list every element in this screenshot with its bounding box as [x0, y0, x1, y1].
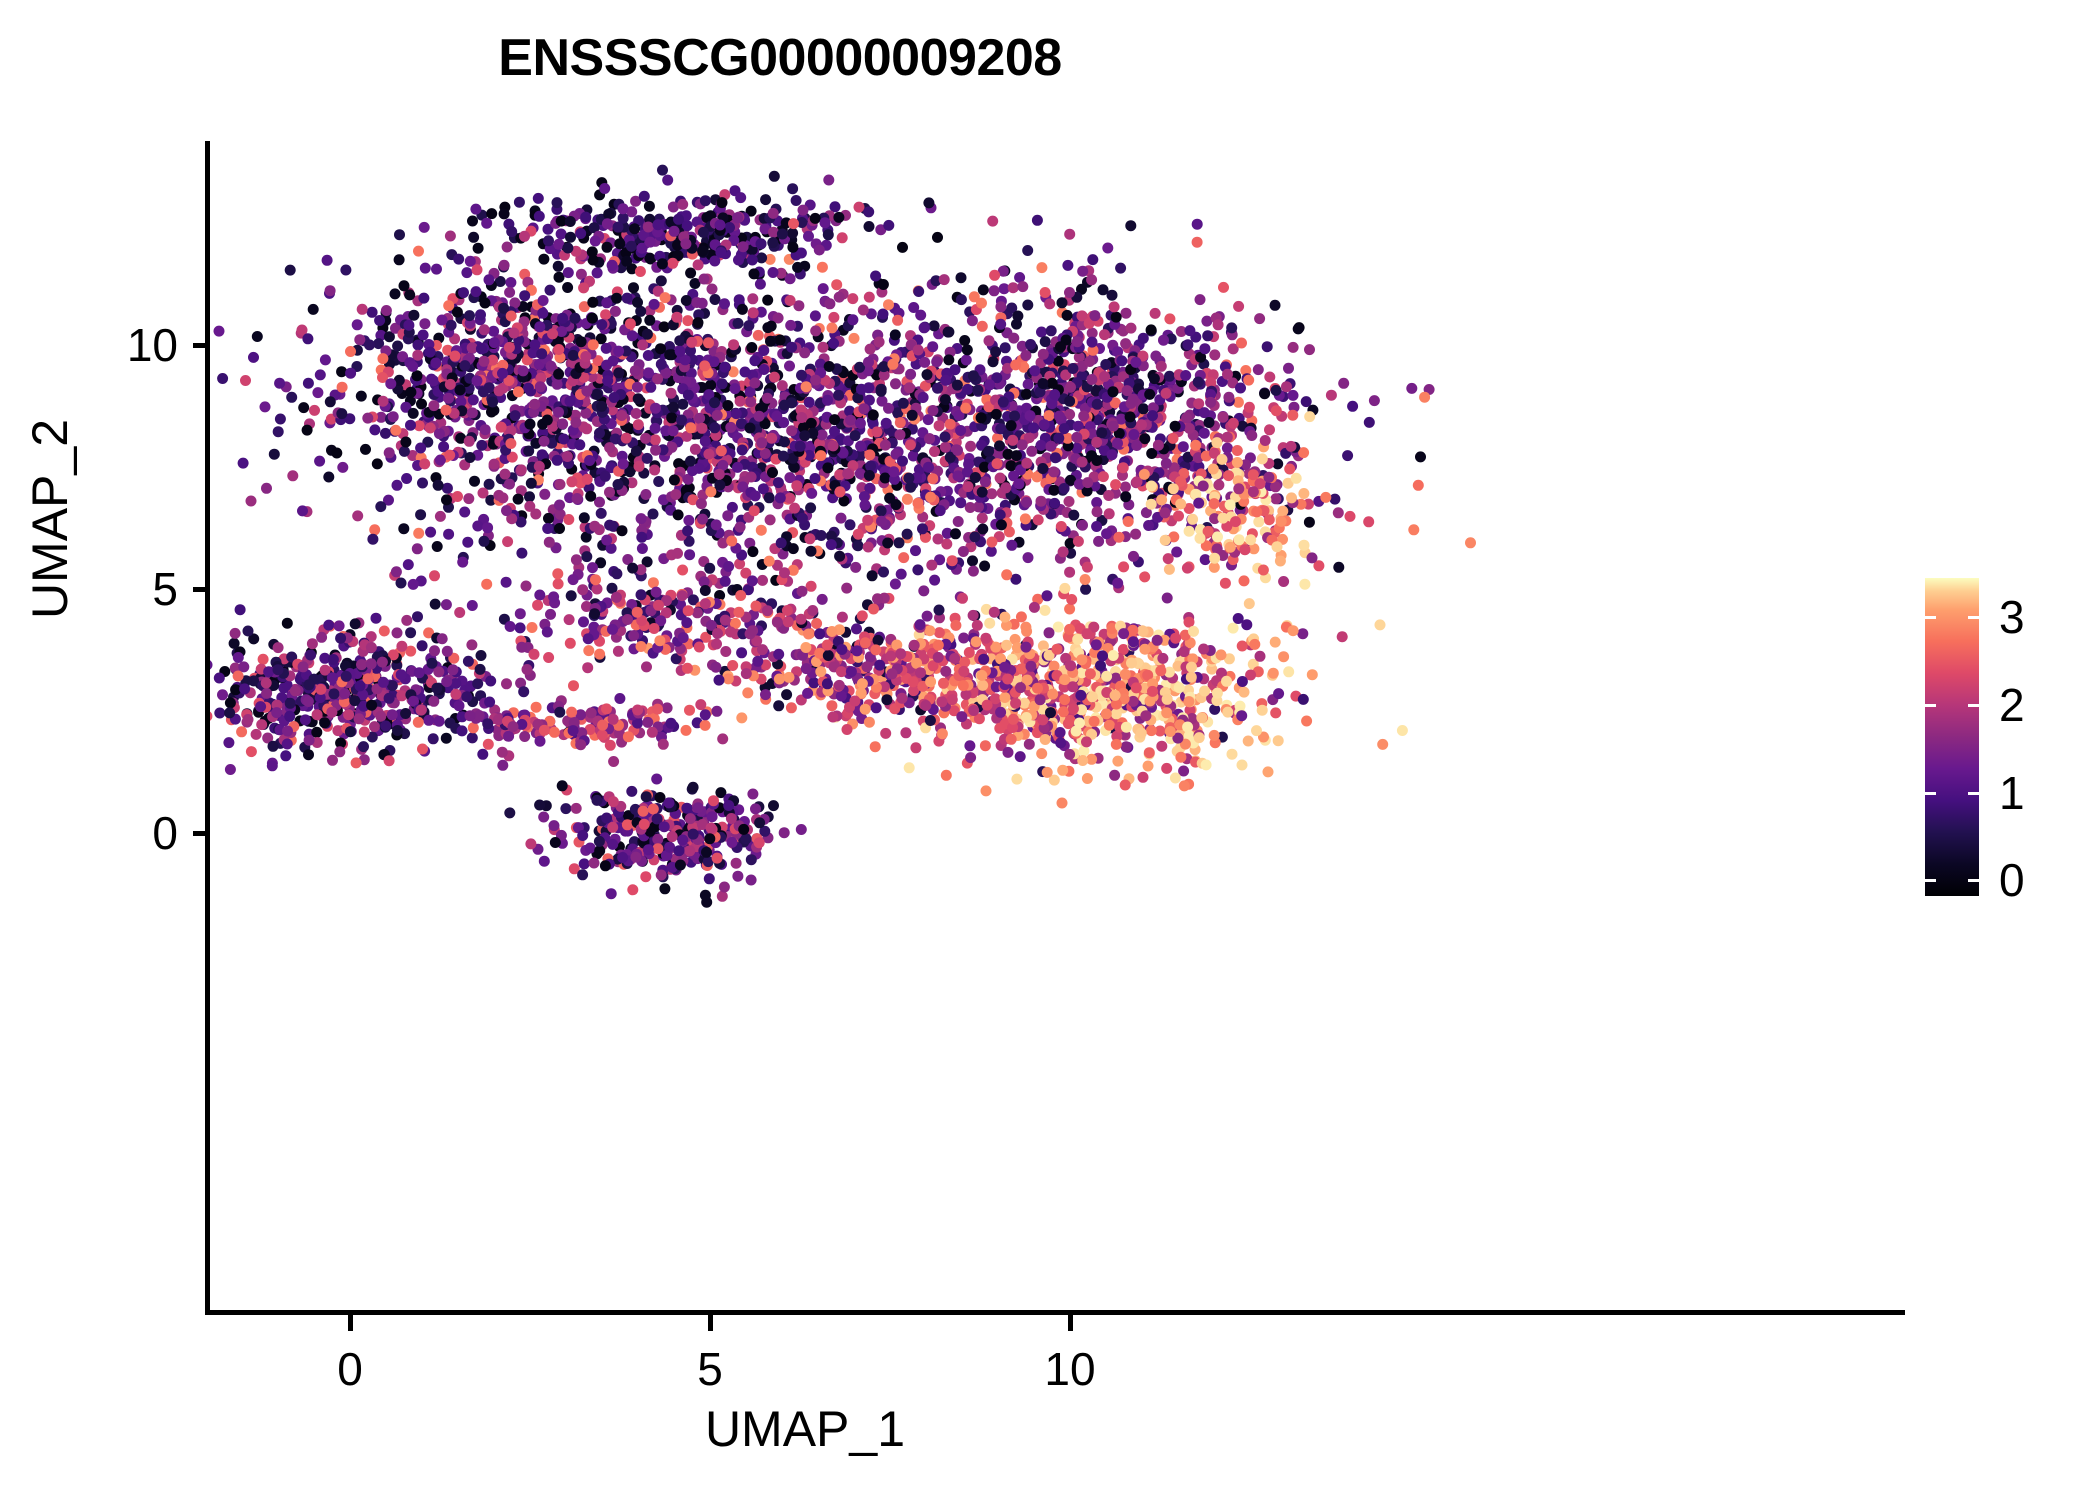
- data-point: [773, 477, 784, 488]
- data-point: [863, 206, 874, 217]
- data-point: [1408, 524, 1419, 535]
- data-point: [659, 321, 670, 332]
- data-point: [644, 315, 655, 326]
- data-point: [747, 293, 758, 304]
- data-point: [360, 444, 371, 455]
- data-point: [815, 450, 826, 461]
- data-point: [1377, 739, 1388, 750]
- data-point: [941, 770, 952, 781]
- data-point: [762, 322, 773, 333]
- data-point: [636, 532, 647, 543]
- data-point: [458, 287, 469, 298]
- data-point: [587, 297, 598, 308]
- data-point: [703, 449, 714, 460]
- data-point: [443, 529, 454, 540]
- data-point: [958, 666, 969, 677]
- data-point: [771, 411, 782, 422]
- data-point: [1103, 490, 1114, 501]
- data-point: [1111, 708, 1122, 719]
- data-point: [618, 203, 629, 214]
- data-point: [1174, 682, 1185, 693]
- data-point: [653, 219, 664, 230]
- data-point: [999, 662, 1010, 673]
- data-point: [981, 785, 992, 796]
- data-point: [829, 414, 840, 425]
- data-point: [1199, 428, 1210, 439]
- data-point: [388, 411, 399, 422]
- data-point: [1092, 506, 1103, 517]
- data-point: [1218, 282, 1229, 293]
- data-point: [1032, 215, 1043, 226]
- data-point: [876, 506, 887, 517]
- data-point: [314, 456, 325, 467]
- data-point: [428, 400, 439, 411]
- data-point: [505, 438, 516, 449]
- data-point: [715, 220, 726, 231]
- data-point: [506, 226, 517, 237]
- data-point: [887, 668, 898, 679]
- data-point: [1299, 579, 1310, 590]
- data-point: [680, 238, 691, 249]
- data-point: [1104, 720, 1115, 731]
- data-point: [1160, 535, 1171, 546]
- data-point: [1301, 396, 1312, 407]
- data-point: [1044, 298, 1055, 309]
- data-point: [1017, 439, 1028, 450]
- data-point: [1209, 349, 1220, 360]
- data-point: [553, 344, 564, 355]
- data-point: [320, 354, 331, 365]
- data-point: [943, 354, 954, 365]
- data-point: [1161, 707, 1172, 718]
- data-point: [1226, 322, 1237, 333]
- data-point: [362, 413, 373, 424]
- data-point: [1158, 335, 1169, 346]
- data-point: [749, 505, 760, 516]
- data-point: [956, 711, 967, 722]
- data-point: [637, 543, 648, 554]
- data-point: [757, 575, 768, 586]
- data-point: [1053, 622, 1064, 633]
- data-point: [1136, 419, 1147, 430]
- data-point: [563, 514, 574, 525]
- data-point: [1183, 696, 1194, 707]
- data-point: [434, 428, 445, 439]
- data-point: [1217, 454, 1228, 465]
- data-point: [979, 561, 990, 572]
- data-point: [773, 649, 784, 660]
- data-point: [537, 308, 548, 319]
- data-point: [1244, 598, 1255, 609]
- data-point: [1150, 308, 1161, 319]
- data-point: [1020, 513, 1031, 524]
- data-point: [412, 350, 423, 361]
- data-point: [970, 472, 981, 483]
- data-point: [804, 533, 815, 544]
- data-point: [842, 724, 853, 735]
- data-point: [579, 512, 590, 523]
- data-point: [1264, 372, 1275, 383]
- data-point: [1049, 661, 1060, 672]
- data-point: [810, 310, 821, 321]
- data-point: [401, 473, 412, 484]
- x-tick-label: 5: [697, 1342, 723, 1396]
- data-point: [968, 705, 979, 716]
- data-point: [934, 605, 945, 616]
- data-point: [552, 455, 563, 466]
- data-point: [1058, 546, 1069, 557]
- data-point: [1080, 584, 1091, 595]
- data-point: [845, 415, 856, 426]
- data-point: [668, 202, 679, 213]
- data-point: [1155, 665, 1166, 676]
- data-point: [1077, 755, 1088, 766]
- data-point: [753, 330, 764, 341]
- data-point: [758, 345, 769, 356]
- data-point: [1200, 554, 1211, 565]
- data-point: [457, 557, 468, 568]
- data-point: [748, 307, 759, 318]
- data-point: [634, 461, 645, 472]
- data-point: [766, 433, 777, 444]
- data-point: [632, 297, 643, 308]
- data-point: [1082, 562, 1093, 573]
- data-point: [716, 445, 727, 456]
- data-point: [850, 562, 861, 573]
- data-point: [465, 452, 476, 463]
- data-point: [683, 515, 694, 526]
- data-point: [827, 712, 838, 723]
- data-point: [415, 509, 426, 520]
- data-point: [1017, 281, 1028, 292]
- data-point: [476, 343, 487, 354]
- data-point: [653, 476, 664, 487]
- data-point: [1121, 722, 1132, 733]
- data-point: [1164, 564, 1175, 575]
- data-point: [905, 369, 916, 380]
- data-point: [920, 700, 931, 711]
- data-point: [1136, 728, 1147, 739]
- data-point: [895, 429, 906, 440]
- data-point: [776, 538, 787, 549]
- data-point: [787, 228, 798, 239]
- data-point: [1057, 297, 1068, 308]
- data-point: [735, 192, 746, 203]
- data-point: [648, 577, 659, 588]
- data-point: [1375, 619, 1386, 630]
- data-point: [1286, 441, 1297, 452]
- data-point: [918, 392, 929, 403]
- data-point: [1128, 636, 1139, 647]
- data-point: [980, 476, 991, 487]
- data-point: [442, 483, 453, 494]
- data-point: [1066, 594, 1077, 605]
- data-point: [543, 513, 554, 524]
- data-point: [952, 445, 963, 456]
- data-point: [888, 466, 899, 477]
- data-point: [608, 356, 619, 367]
- data-point: [976, 298, 987, 309]
- data-point: [854, 202, 865, 213]
- data-point: [760, 194, 771, 205]
- data-point: [874, 337, 885, 348]
- data-point: [650, 445, 661, 456]
- data-point: [566, 590, 577, 601]
- data-point: [1222, 432, 1233, 443]
- data-point: [880, 440, 891, 451]
- data-point: [1120, 780, 1131, 791]
- data-point: [662, 175, 673, 186]
- data-point: [552, 379, 563, 390]
- data-point: [631, 446, 642, 457]
- data-point: [950, 620, 961, 631]
- data-point: [998, 397, 1009, 408]
- data-point: [352, 319, 363, 330]
- data-point: [553, 261, 564, 272]
- y-tick-mark: [193, 343, 210, 348]
- data-point: [1162, 694, 1173, 705]
- data-point: [618, 458, 629, 469]
- data-point: [904, 762, 915, 773]
- data-point: [1145, 696, 1156, 707]
- data-point: [1036, 496, 1047, 507]
- data-point: [1121, 308, 1132, 319]
- data-point: [826, 700, 837, 711]
- data-point: [1064, 229, 1075, 240]
- data-point: [890, 579, 901, 590]
- data-point: [394, 254, 405, 265]
- data-point: [1259, 388, 1270, 399]
- data-point: [898, 552, 909, 563]
- data-point: [482, 522, 493, 533]
- data-point: [988, 356, 999, 367]
- data-point: [584, 455, 595, 466]
- data-point: [671, 312, 682, 323]
- data-point: [1181, 412, 1192, 423]
- data-point: [796, 412, 807, 423]
- data-point: [1008, 714, 1019, 725]
- data-point: [1161, 388, 1172, 399]
- data-point: [1264, 514, 1275, 525]
- data-point: [575, 228, 586, 239]
- data-point: [1251, 506, 1262, 517]
- data-point: [902, 494, 913, 505]
- data-point: [1023, 379, 1034, 390]
- data-point: [940, 666, 951, 677]
- data-point: [649, 299, 660, 310]
- data-point: [687, 465, 698, 476]
- data-point: [815, 666, 826, 677]
- data-point: [1062, 310, 1073, 321]
- data-point: [733, 255, 744, 266]
- data-point: [676, 415, 687, 426]
- data-point: [602, 242, 613, 253]
- data-point: [1263, 766, 1274, 777]
- data-point: [1065, 715, 1076, 726]
- data-point: [1098, 471, 1109, 482]
- data-point: [1045, 707, 1056, 718]
- data-point: [557, 418, 568, 429]
- data-point: [932, 383, 943, 394]
- data-point: [864, 221, 875, 232]
- data-point: [883, 403, 894, 414]
- data-point: [1099, 371, 1110, 382]
- data-point: [735, 522, 746, 533]
- data-point: [969, 531, 980, 542]
- data-point: [500, 469, 511, 480]
- data-point: [1118, 561, 1129, 572]
- data-point: [897, 693, 908, 704]
- data-point: [943, 327, 954, 338]
- scatter-plot-area: [210, 141, 1905, 1310]
- data-point: [971, 636, 982, 647]
- data-point: [1281, 381, 1292, 392]
- data-point: [533, 193, 544, 204]
- data-point: [613, 346, 624, 357]
- data-point: [934, 627, 945, 638]
- data-point: [896, 569, 907, 580]
- data-point: [697, 245, 708, 256]
- data-point: [940, 375, 951, 386]
- data-point: [1064, 567, 1075, 578]
- data-point: [435, 455, 446, 466]
- data-point: [633, 393, 644, 404]
- data-point: [322, 255, 333, 266]
- data-point: [804, 397, 815, 408]
- data-point: [518, 365, 529, 376]
- data-point: [1040, 734, 1051, 745]
- y-tick-label: 0: [0, 806, 178, 860]
- data-point: [1347, 401, 1358, 412]
- data-point: [1139, 469, 1150, 480]
- data-point: [1120, 338, 1131, 349]
- data-point: [1218, 513, 1229, 524]
- data-point: [872, 426, 883, 437]
- data-point: [816, 530, 827, 541]
- data-point: [863, 357, 874, 368]
- data-point: [982, 700, 993, 711]
- data-point: [601, 535, 612, 546]
- data-point: [864, 449, 875, 460]
- data-point: [357, 304, 368, 315]
- data-point: [555, 479, 566, 490]
- data-point: [657, 165, 668, 176]
- data-point: [1168, 433, 1179, 444]
- data-point: [1212, 531, 1223, 542]
- data-point: [600, 309, 611, 320]
- data-point: [1130, 357, 1141, 368]
- data-point: [1138, 403, 1149, 414]
- data-point: [1001, 569, 1012, 580]
- data-point: [904, 382, 915, 393]
- data-point: [924, 433, 935, 444]
- data-point: [450, 351, 461, 362]
- data-point: [1042, 590, 1053, 601]
- data-point: [1058, 706, 1069, 717]
- data-point: [1260, 435, 1271, 446]
- data-point: [885, 651, 896, 662]
- data-point: [660, 292, 671, 303]
- data-point: [1228, 418, 1239, 429]
- data-point: [700, 436, 711, 447]
- data-point: [554, 523, 565, 534]
- data-point: [1208, 464, 1219, 475]
- data-point: [806, 546, 817, 557]
- data-point: [1010, 359, 1021, 370]
- data-point: [723, 561, 734, 572]
- data-point: [822, 395, 833, 406]
- data-point: [238, 458, 249, 469]
- data-point: [429, 570, 440, 581]
- data-point: [765, 514, 776, 525]
- data-point: [246, 746, 257, 757]
- data-point: [1209, 498, 1220, 509]
- data-point: [808, 677, 819, 688]
- data-point: [1081, 628, 1092, 639]
- data-point: [657, 258, 668, 269]
- data-point: [412, 543, 423, 554]
- data-point: [1012, 311, 1023, 322]
- data-point: [415, 443, 426, 454]
- data-point: [927, 405, 938, 416]
- data-point: [441, 494, 452, 505]
- data-point: [1006, 540, 1017, 551]
- data-point: [523, 383, 534, 394]
- data-point: [767, 467, 778, 478]
- data-point: [1253, 516, 1264, 527]
- data-point: [755, 279, 766, 290]
- data-point: [682, 525, 693, 536]
- data-point: [822, 678, 833, 689]
- data-point: [535, 381, 546, 392]
- data-point: [523, 446, 534, 457]
- data-point: [834, 680, 845, 691]
- data-point: [883, 299, 894, 310]
- data-point: [685, 268, 696, 279]
- data-point: [445, 231, 456, 242]
- data-point: [1126, 658, 1137, 669]
- data-point: [855, 441, 866, 452]
- data-point: [419, 318, 430, 329]
- data-point: [1213, 480, 1224, 491]
- x-tick-mark: [708, 1314, 713, 1331]
- data-point: [1071, 432, 1082, 443]
- data-point: [1021, 389, 1032, 400]
- data-point: [940, 394, 951, 405]
- data-point: [1304, 517, 1315, 528]
- data-point: [1053, 433, 1064, 444]
- data-point: [516, 548, 527, 559]
- data-point: [1138, 333, 1149, 344]
- data-point: [1222, 369, 1233, 380]
- data-point: [1026, 661, 1037, 672]
- data-point: [810, 375, 821, 386]
- data-point: [737, 445, 748, 456]
- data-point: [1182, 722, 1193, 733]
- data-point: [1059, 694, 1070, 705]
- data-point: [681, 295, 692, 306]
- data-point: [897, 456, 908, 467]
- data-point: [581, 386, 592, 397]
- data-point: [801, 663, 812, 674]
- data-point: [479, 536, 490, 547]
- data-point: [443, 300, 454, 311]
- data-point: [613, 222, 624, 233]
- data-point: [616, 410, 627, 421]
- data-point: [506, 311, 517, 322]
- data-point: [1270, 300, 1281, 311]
- data-point: [312, 387, 323, 398]
